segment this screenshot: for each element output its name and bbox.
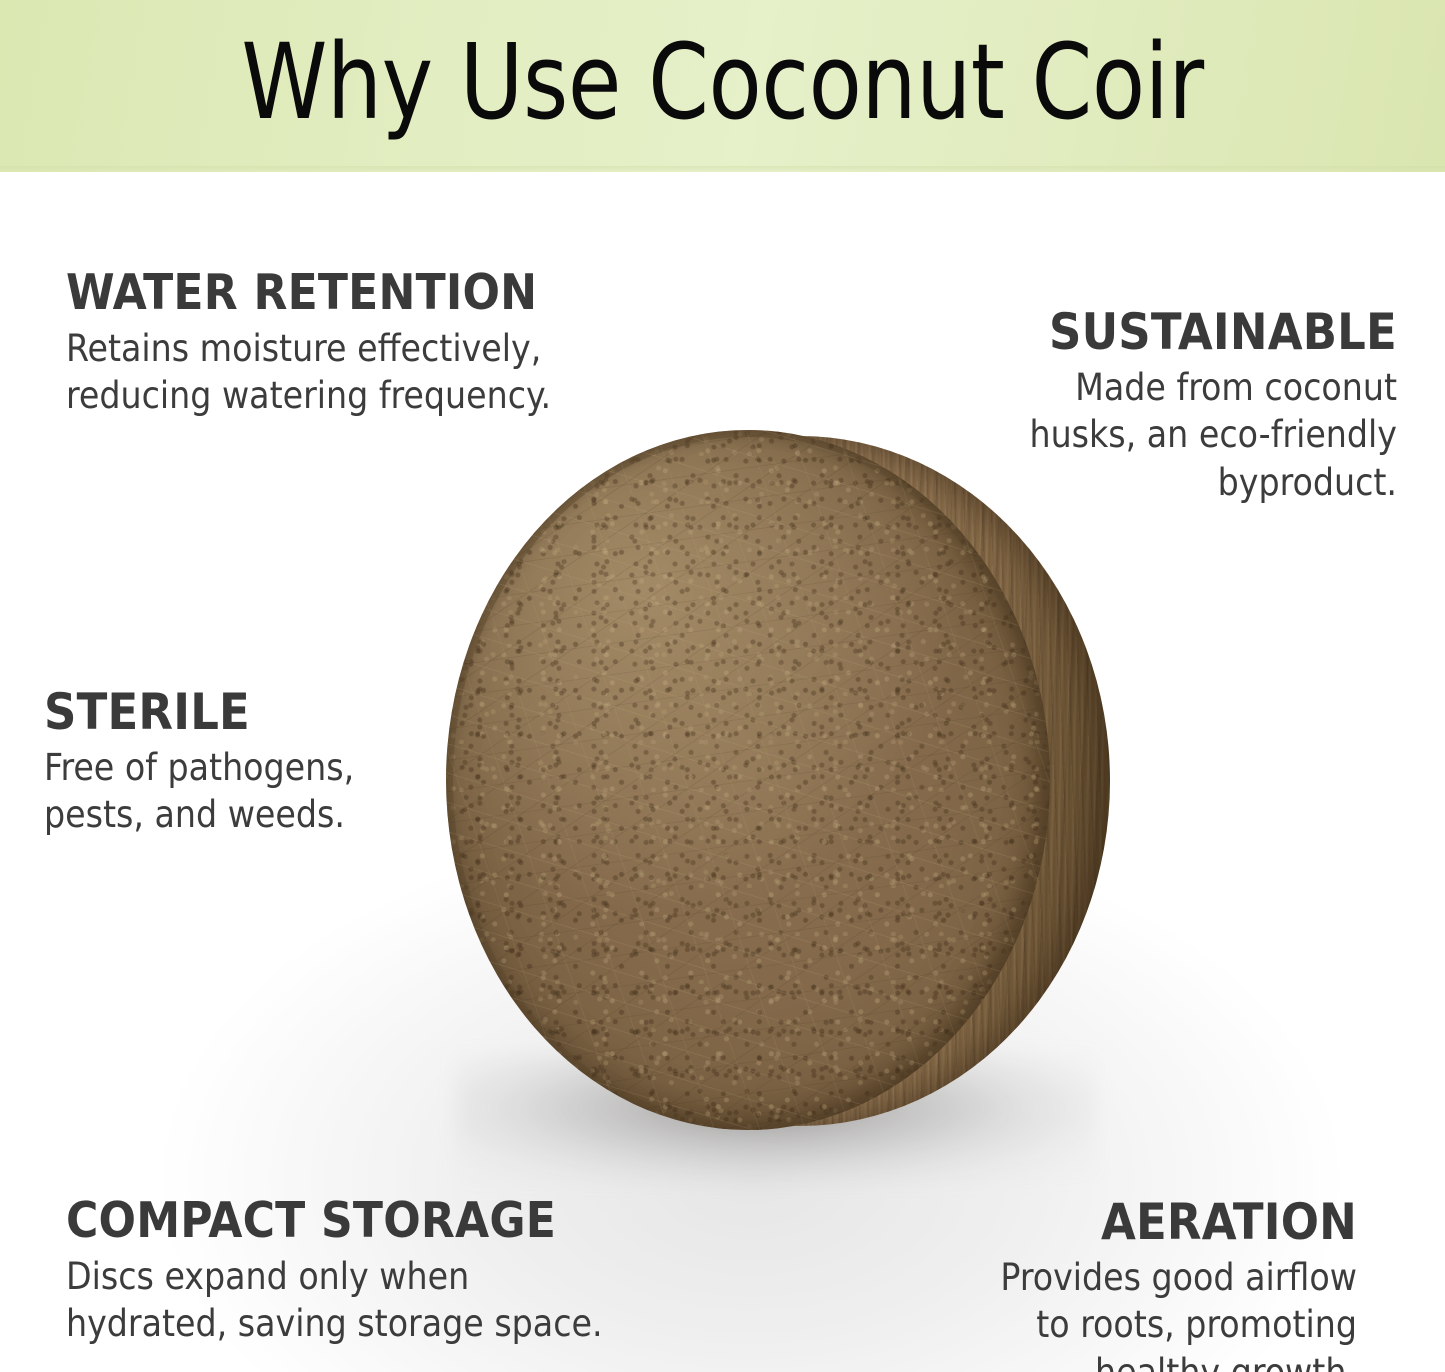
- feature-body: Made from coconut husks, an eco-friendly…: [1029, 364, 1397, 506]
- feature-sterile: STERILE Free of pathogens, pests, and we…: [44, 686, 354, 839]
- feature-title: COMPACT STORAGE: [66, 1196, 603, 1247]
- feature-title: STERILE: [44, 686, 354, 738]
- feature-body: Retains moisture effectively, reducing w…: [66, 325, 551, 420]
- feature-body: Free of pathogens, pests, and weeds.: [44, 744, 354, 839]
- infographic-canvas: Why Use Coconut Coir WATER RETENTION Ret…: [0, 0, 1445, 1372]
- feature-compact-storage: COMPACT STORAGE Discs expand only when h…: [66, 1196, 603, 1348]
- feature-water-retention: WATER RETENTION Retains moisture effecti…: [66, 268, 551, 420]
- coconut-coir-disc-image: [446, 430, 1114, 1140]
- feature-aeration: AERATION Provides good airflow to roots,…: [1000, 1196, 1357, 1372]
- disc-face-edge: [446, 430, 1050, 1130]
- disc-front-face: [446, 430, 1050, 1130]
- feature-title: WATER RETENTION: [66, 268, 551, 319]
- feature-body: Provides good airflow to roots, promotin…: [1000, 1254, 1357, 1372]
- feature-body: Discs expand only when hydrated, saving …: [66, 1253, 603, 1348]
- page-title: Why Use Coconut Coir: [51, 0, 1395, 172]
- feature-title: AERATION: [1000, 1196, 1357, 1248]
- feature-sustainable: SUSTAINABLE Made from coconut husks, an …: [1029, 306, 1397, 506]
- feature-title: SUSTAINABLE: [1029, 306, 1397, 358]
